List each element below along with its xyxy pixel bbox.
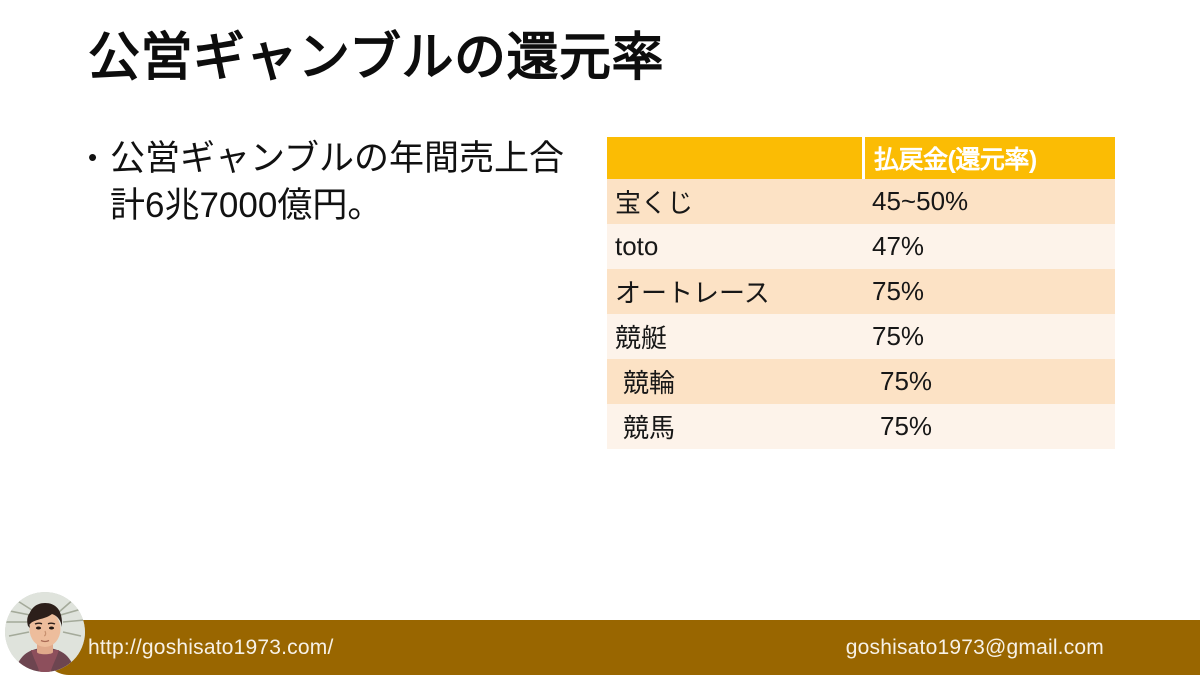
table-row: 宝くじ 45~50%	[607, 179, 1115, 224]
avatar-photo-icon	[5, 592, 85, 672]
presentation-slide: 公営ギャンブルの還元率 • 公営ギャンブルの年間売上合計6兆7000億円。 払戻…	[0, 0, 1200, 675]
table-header: 払戻金(還元率)	[607, 137, 1115, 179]
cell-payout-rate: 47%	[862, 224, 1115, 269]
bullet-text: 公営ギャンブルの年間売上合計6兆7000億円。	[110, 136, 578, 230]
cell-gamble-name: 競輪	[607, 359, 862, 404]
footer-email-address[interactable]: goshisato1973@gmail.com	[846, 636, 1104, 660]
table-row: toto 47%	[607, 224, 1115, 269]
cell-payout-rate: 75%	[862, 404, 1115, 449]
slide-title: 公営ギャンブルの還元率	[88, 29, 664, 89]
cell-payout-rate: 75%	[862, 269, 1115, 314]
table-header-row: 払戻金(還元率)	[607, 137, 1115, 179]
cell-payout-rate: 75%	[862, 359, 1115, 404]
table-row: 競馬 75%	[607, 404, 1115, 449]
cell-payout-rate: 45~50%	[862, 179, 1115, 224]
cell-gamble-name: toto	[607, 224, 862, 269]
cell-payout-rate: 75%	[862, 314, 1115, 359]
footer-website-url[interactable]: http://goshisato1973.com/	[88, 636, 334, 660]
cell-gamble-name: 競艇	[607, 314, 862, 359]
table-row: 競艇 75%	[607, 314, 1115, 359]
table-row: 競輪 75%	[607, 359, 1115, 404]
table-row: オートレース 75%	[607, 269, 1115, 314]
payout-rate-table: 払戻金(還元率) 宝くじ 45~50% toto 47% オートレース 75% …	[607, 137, 1115, 449]
column-header-payout: 払戻金(還元率)	[862, 137, 1115, 179]
bullet-point-icon: •	[88, 136, 110, 178]
cell-gamble-name: 宝くじ	[607, 179, 862, 224]
cell-gamble-name: オートレース	[607, 269, 862, 314]
list-item: • 公営ギャンブルの年間売上合計6兆7000億円。	[88, 136, 578, 230]
column-header-category	[607, 137, 862, 179]
avatar	[5, 592, 85, 672]
cell-gamble-name: 競馬	[607, 404, 862, 449]
bullet-list: • 公営ギャンブルの年間売上合計6兆7000億円。	[88, 136, 578, 230]
table-body: 宝くじ 45~50% toto 47% オートレース 75% 競艇 75% 競輪…	[607, 179, 1115, 449]
